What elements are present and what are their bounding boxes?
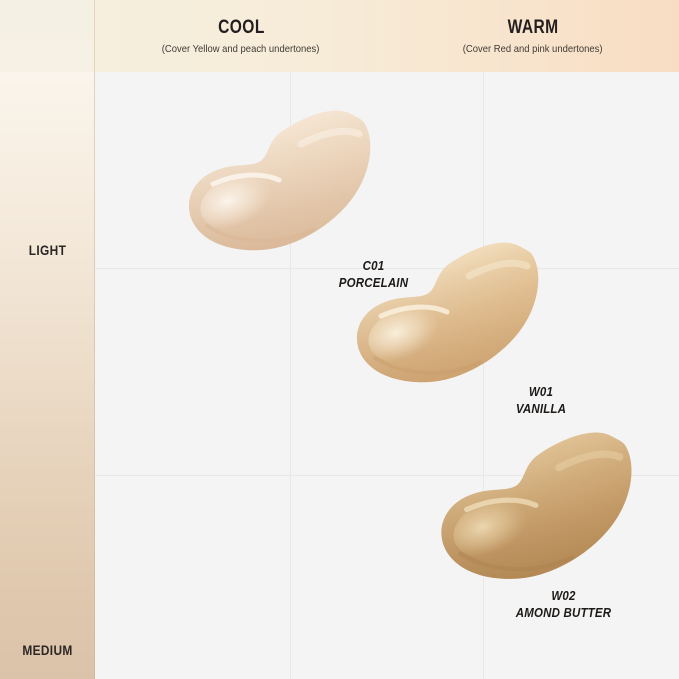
swatch-plot-area: C01 PORCELAIN <box>95 72 679 679</box>
swatch-code-c01: C01 <box>325 258 422 275</box>
swatch-blob-c01 <box>183 112 383 257</box>
sidebar-label-light: LIGHT <box>7 242 88 258</box>
header-column-cool: COOL (Cover Yellow and peach undertones) <box>95 0 387 72</box>
header-title-cool: COOL <box>218 18 265 37</box>
swatch-code-w02: W02 <box>483 588 644 605</box>
sidebar-label-medium: MEDIUM <box>7 642 88 658</box>
swatch-label-c01: C01 PORCELAIN <box>325 258 422 291</box>
gridline-vertical-1 <box>290 72 291 679</box>
swatch-label-w01: W01 VANILLA <box>495 384 587 417</box>
swatch-blob-w02 <box>435 434 645 586</box>
shade-finder-chart: COOL (Cover Yellow and peach undertones)… <box>0 0 679 679</box>
swatch-name-w01: VANILLA <box>495 401 587 418</box>
header-subtitle-cool: (Cover Yellow and peach undertones) <box>162 44 320 55</box>
swatch-name-c01: PORCELAIN <box>325 275 422 292</box>
header-title-warm: WARM <box>508 18 559 37</box>
swatch-label-w02: W02 AMOND BUTTER <box>483 588 644 621</box>
header-column-warm: WARM (Cover Red and pink undertones) <box>387 0 679 72</box>
gridline-horizontal-2 <box>95 475 679 476</box>
depth-sidebar: LIGHT MEDIUM <box>0 72 95 679</box>
header-corner-blank <box>0 0 95 72</box>
swatch-name-w02: AMOND BUTTER <box>483 605 644 622</box>
swatch-code-w01: W01 <box>495 384 587 401</box>
header-subtitle-warm: (Cover Red and pink undertones) <box>463 44 603 55</box>
